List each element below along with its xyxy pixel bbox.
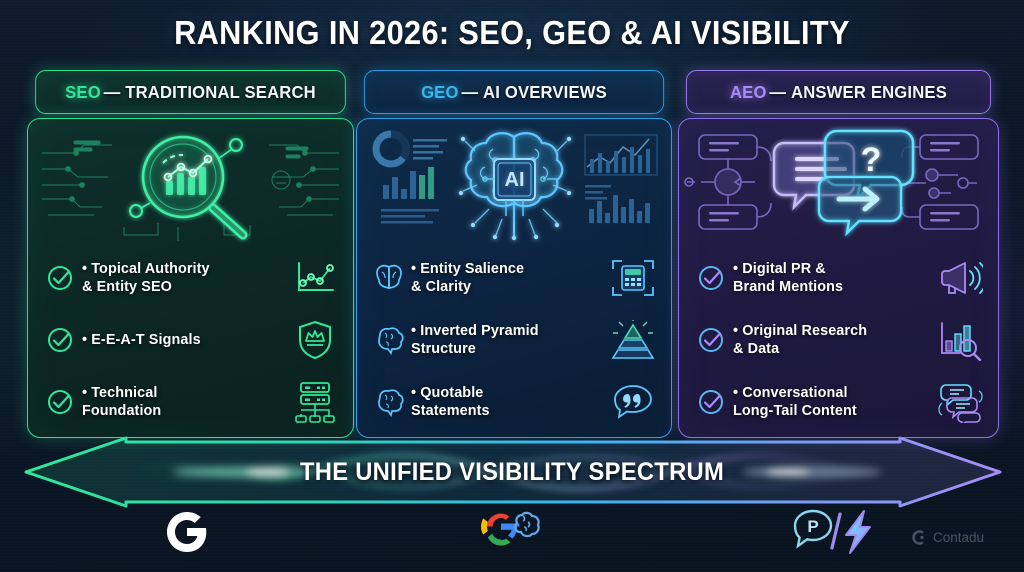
bullet-line-2: Foundation (82, 402, 289, 420)
brain-icon (371, 325, 407, 355)
chat-flow-icon (934, 381, 986, 423)
bullet-line-2: & Entity SEO (82, 278, 289, 296)
column-header-geo: GEO — AI OVERVIEWS (364, 70, 664, 114)
brain-icon (371, 263, 407, 293)
hero-ai-brain-chip-dashboard-icon: AI (357, 123, 671, 245)
bullet-row: • Entity Salience & Clarity (357, 247, 671, 309)
bullet-line-1: • Inverted Pyramid (411, 322, 607, 340)
column-label-geo: AI OVERVIEWS (483, 82, 607, 103)
bullet-line-2: Statements (411, 402, 607, 420)
pyramid-icon (607, 319, 659, 361)
svg-text:AI: AI (505, 169, 525, 191)
check-circle-icon (42, 263, 78, 293)
banner-label: THE UNIFIED VISIBILITY SPECTRUM (26, 436, 999, 508)
hero-chat-question-flow-icon: ? (679, 123, 998, 245)
column-key-geo: GEO (421, 82, 459, 103)
bullet-line-2: Brand Mentions (733, 278, 934, 296)
column-card-seo: • Topical Authority & Entity SEO (27, 118, 354, 438)
column-card-geo: AI (356, 118, 672, 438)
perplexity-grok-logo-icon: P (786, 503, 890, 561)
check-circle-icon (42, 387, 78, 417)
bullet-line-1: • Original Research (733, 322, 934, 340)
bullet-text: • Original Research & Data (729, 322, 934, 359)
bullet-list-seo: • Topical Authority & Entity SEO (28, 247, 353, 433)
column-label-aeo: ANSWER ENGINES (791, 82, 947, 103)
bullet-line-1: • Technical (82, 384, 289, 402)
column-header-seo: SEO — TRADITIONAL SEARCH (35, 70, 346, 114)
column-dash-geo: — (461, 82, 478, 103)
bullet-text: • Technical Foundation (78, 384, 289, 421)
bullet-text: • Quotable Statements (407, 384, 607, 421)
hero-question-glyph: ? (861, 141, 882, 179)
bullet-row: • Quotable Statements (357, 371, 671, 433)
bullet-row: • Inverted Pyramid Structure (357, 309, 671, 371)
infographic-canvas: RANKING IN 2026: SEO, GEO & AI VISIBILIT… (0, 0, 1024, 572)
bullet-text: • Entity Salience & Clarity (407, 260, 607, 297)
column-key-aeo: AEO (730, 82, 767, 103)
hero-magnifying-glass-analytics-circuit-icon (28, 123, 353, 245)
bullet-line-1: • Entity Salience (411, 260, 607, 278)
page-title: RANKING IN 2026: SEO, GEO & AI VISIBILIT… (36, 14, 988, 52)
bullet-line-2: Long-Tail Content (733, 402, 934, 420)
check-circle-icon (42, 325, 78, 355)
bullet-line-1: • Topical Authority (82, 260, 289, 278)
bullet-text: • Conversational Long-Tail Content (729, 384, 934, 421)
bullet-line-1: • Quotable (411, 384, 607, 402)
bullet-line-1: • E-E-A-T Signals (82, 331, 289, 349)
bullet-row: • Technical Foundation (28, 371, 353, 433)
check-circle-icon (693, 387, 729, 417)
contadu-c-mark-icon (910, 529, 927, 546)
check-circle-icon (693, 325, 729, 355)
megaphone-icon (934, 258, 986, 298)
line-chart-icon (289, 259, 341, 297)
server-network-icon (289, 381, 341, 423)
bullet-row: • Digital PR & Brand Mentions (679, 247, 998, 309)
quote-bubble-icon (607, 382, 659, 422)
google-g-logo-icon (150, 503, 224, 561)
bullet-row: • Conversational Long-Tail Content (679, 371, 998, 433)
google-brain-logo-icon (470, 503, 556, 561)
column-dash-seo: — (104, 82, 121, 103)
bullet-list-geo: • Entity Salience & Clarity (357, 247, 671, 433)
bullet-list-aeo: • Digital PR & Brand Mentions (679, 247, 998, 433)
column-key-seo: SEO (65, 82, 101, 103)
bullet-row: • Original Research & Data (679, 309, 998, 371)
bullet-line-1: • Conversational (733, 384, 934, 402)
column-card-aeo: ? • Digital PR & Brand Mentions (678, 118, 999, 438)
column-header-aeo: AEO — ANSWER ENGINES (686, 70, 991, 114)
watermark-label: Contadu (933, 530, 984, 545)
bar-chart-search-icon (934, 319, 986, 361)
brain-icon (371, 387, 407, 417)
column-dash-aeo: — (769, 82, 786, 103)
bullet-text: • Digital PR & Brand Mentions (729, 260, 934, 297)
check-circle-icon (693, 263, 729, 293)
bullet-line-2: & Clarity (411, 278, 607, 296)
bullet-text: • E-E-A-T Signals (78, 331, 289, 349)
contadu-watermark: Contadu (910, 529, 984, 546)
calculator-scan-icon (607, 258, 659, 298)
bullet-row: • E-E-A-T Signals (28, 309, 353, 371)
column-label-seo: TRADITIONAL SEARCH (125, 82, 316, 103)
bullet-text: • Inverted Pyramid Structure (407, 322, 607, 359)
bullet-line-2: & Data (733, 340, 934, 358)
shield-crown-icon (289, 319, 341, 361)
perplexity-p-glyph: P (807, 517, 818, 536)
bullet-text: • Topical Authority & Entity SEO (78, 260, 289, 297)
bullet-line-1: • Digital PR & (733, 260, 934, 278)
bullet-line-2: Structure (411, 340, 607, 358)
bullet-row: • Topical Authority & Entity SEO (28, 247, 353, 309)
